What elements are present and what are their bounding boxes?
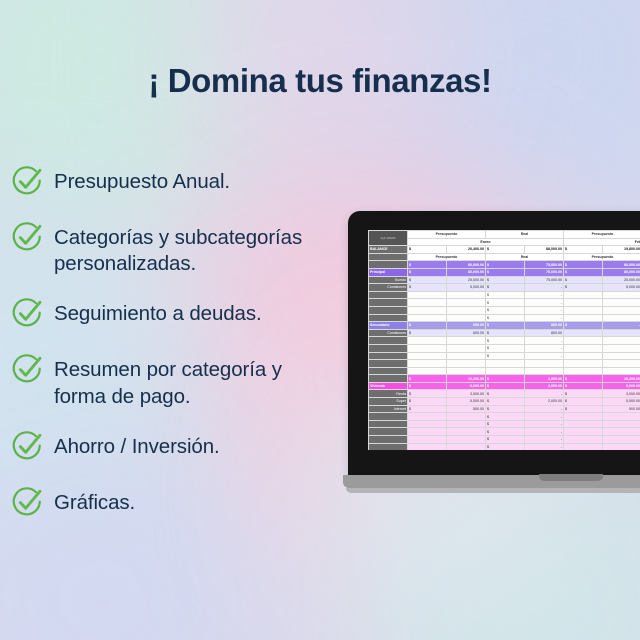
cell-value[interactable]: 800.00 [525,322,564,330]
balance-value[interactable]: 19,800.00 [603,246,640,254]
cell-value[interactable] [525,360,564,368]
feature-list: Presupuesto Anual. Categorías y subcateg… [10,167,382,544]
currency-symbol[interactable]: $ [408,322,447,330]
row-label[interactable]: Comisiones [369,329,408,337]
list-item-label: Resumen por categoría y forma de pago. [54,355,282,409]
currency-symbol[interactable]: $ [486,268,525,276]
cell-value[interactable] [447,299,486,307]
currency-symbol[interactable]: $ [486,322,525,330]
cell-value[interactable]: 25,000.00 [603,276,640,284]
currency-symbol[interactable]: $ [486,443,525,450]
cell-value[interactable]: - [525,284,564,292]
currency-symbol[interactable]: $ [408,390,447,398]
currency-symbol[interactable] [408,443,447,450]
currency-symbol[interactable]: $ [486,276,525,284]
currency-symbol[interactable]: $ [486,382,525,390]
laptop-foot [346,488,640,493]
currency-symbol[interactable]: $ [564,322,603,330]
currency-symbol[interactable] [564,306,603,314]
cell-value[interactable]: - [525,405,564,413]
list-item-label: Categorías y subcategorías personalizada… [54,223,302,277]
column-header[interactable]: Presupuesto [564,231,640,239]
currency-symbol[interactable]: $ [408,268,447,276]
column-header[interactable]: Presupuesto [564,253,640,261]
currency-symbol[interactable]: $ [486,390,525,398]
cell-value[interactable] [603,306,640,314]
currency-symbol[interactable] [408,337,447,345]
row-label[interactable]: Sueldo [369,276,408,284]
list-item-label: Presupuesto Anual. [54,167,230,195]
cell-value[interactable] [447,360,486,368]
sheet-row[interactable]: Comisiones$600.00$800.00$- [369,329,640,337]
column-header[interactable]: Presupuesto [408,231,486,239]
sheet-row[interactable]: $-$- [369,299,640,307]
poster-canvas: ¡ Domina tus finanzas! Presupuesto Anual… [0,0,640,640]
cell-value[interactable]: 500.00 [447,405,486,413]
row-label[interactable] [369,337,408,345]
cell-value[interactable] [603,352,640,360]
currency-symbol[interactable] [564,337,603,345]
currency-symbol[interactable] [564,299,603,307]
currency-symbol[interactable] [564,352,603,360]
cell-value[interactable] [447,367,486,375]
row-label[interactable] [369,299,408,307]
cell-value[interactable]: 5,000.00 [447,284,486,292]
currency-symbol[interactable]: $ [486,413,525,421]
sheet-row[interactable]: $-$- [369,314,640,322]
currency-symbol[interactable]: $ [564,390,603,398]
balance-label[interactable]: BALANCE [369,246,408,254]
cell-value[interactable]: 5,500.00 [447,398,486,406]
currency-symbol[interactable]: $ [564,398,603,406]
currency-symbol[interactable]: $ [408,284,447,292]
cell-value[interactable]: 2,000.00 [525,382,564,390]
currency-symbol[interactable]: $ [408,405,447,413]
cell-value[interactable] [447,314,486,322]
sheet-row[interactable]: Secundario$600.00$800.00$-$- [369,322,640,330]
currency-symbol[interactable]: $ [564,261,603,269]
check-circle-icon [10,297,44,331]
cell-value[interactable]: 80,000.00 [447,268,486,276]
currency-symbol[interactable]: $ [486,337,525,345]
currency-symbol[interactable]: $ [486,405,525,413]
cell-value[interactable]: - [525,443,564,450]
row-label[interactable]: Secundario [369,322,408,330]
currency-symbol[interactable] [564,291,603,299]
cell-value[interactable] [603,443,640,450]
sheet-row[interactable]: Comisiones$5,000.00$-$5,000.00$-$5 [369,284,640,292]
sheet-row[interactable] [369,360,640,368]
currency-symbol[interactable] [564,367,603,375]
currency-symbol[interactable]: $ [564,405,603,413]
cell-value[interactable]: 75,000.00 [525,276,564,284]
cell-value[interactable]: 80,000.00 [603,261,640,269]
cell-value[interactable]: - [525,291,564,299]
cell-value[interactable] [603,299,640,307]
currency-symbol[interactable] [408,436,447,444]
cell-value[interactable]: 10,200.00 [603,375,640,383]
currency-symbol[interactable]: $ [486,261,525,269]
sheet-row[interactable] [369,367,640,375]
row-label[interactable] [369,443,408,450]
sheet-row[interactable]: $-$- [369,291,640,299]
currency-symbol[interactable]: $ [486,291,525,299]
currency-symbol[interactable] [564,344,603,352]
currency-symbol[interactable] [408,428,447,436]
currency-symbol[interactable]: $ [564,382,603,390]
balance-value[interactable]: 88,000.00 [525,246,564,254]
month-header-row[interactable]: EneroFebrero [369,238,640,246]
cell-value[interactable]: 600.00 [447,329,486,337]
cell-value[interactable] [447,428,486,436]
cell-value[interactable]: 9,000.00 [603,382,640,390]
cell-value[interactable]: - [525,337,564,345]
cell-value[interactable]: - [525,314,564,322]
row-label[interactable] [369,436,408,444]
cell-value[interactable]: 2,000.00 [525,398,564,406]
row-label[interactable] [369,413,408,421]
sub-header-row[interactable]: PresupuestoRealPresupuestoRealPresupuest… [369,253,640,261]
column-header[interactable]: Real [486,231,564,239]
sheet-row[interactable]: $-$- [369,337,640,345]
row-label[interactable] [369,375,408,383]
budget-spreadsheet[interactable]: Ayb SARISPresupuestoRealPresupuestoRealP… [368,230,640,450]
currency-symbol[interactable] [564,443,603,450]
month-header[interactable]: Febrero [564,238,640,246]
cell-value[interactable]: 9,000.00 [447,382,486,390]
cell-value[interactable]: - [525,413,564,421]
cell-value[interactable] [447,443,486,450]
row-label[interactable] [369,291,408,299]
sheet-row[interactable]: Principal$80,000.00$75,000.00$80,000.00$… [369,268,640,276]
check-circle-icon [10,430,44,464]
check-circle-icon [10,165,44,199]
cell-value[interactable] [603,344,640,352]
balance-row[interactable]: BALANCE$20,400.00$88,000.00$19,800.00-$2… [369,246,640,254]
sheet-row[interactable]: Internet$500.00$-$500.00$-$5 [369,405,640,413]
list-item-label: Gráficas. [54,488,135,516]
cell-value[interactable]: 500.00 [603,405,640,413]
cell-value[interactable] [603,337,640,345]
currency-symbol[interactable] [564,413,603,421]
currency-symbol[interactable] [564,428,603,436]
row-label[interactable]: Renta [369,390,408,398]
cell-value[interactable] [603,436,640,444]
group-total-row[interactable]: $80,000.00$75,800.00$80,000.00$-$8 [369,261,640,269]
cell-value[interactable]: 2,800.00 [525,375,564,383]
cell-value[interactable] [603,314,640,322]
sheet-row[interactable]: $-$- [369,352,640,360]
currency-symbol[interactable]: $ [564,246,603,254]
currency-symbol[interactable] [564,329,603,337]
laptop-mockup: Ayb SARISPresupuestoRealPresupuestoRealP… [343,211,640,511]
currency-symbol[interactable] [486,360,525,368]
laptop-screen: Ayb SARISPresupuestoRealPresupuestoRealP… [368,230,640,450]
column-header[interactable]: Presupuesto [408,253,486,261]
list-item: Presupuesto Anual. [10,167,382,199]
cell-value[interactable] [447,291,486,299]
cell-value[interactable] [603,420,640,428]
currency-symbol[interactable]: $ [486,375,525,383]
cell-value[interactable]: 600.00 [447,322,486,330]
cell-value[interactable]: - [603,322,640,330]
list-item-label: Seguimiento a deudas. [54,299,262,327]
cell-value[interactable]: 5,500.00 [603,398,640,406]
sheet-row[interactable]: $-$- [369,413,640,421]
row-label[interactable] [369,360,408,368]
currency-symbol[interactable]: $ [408,276,447,284]
cell-value[interactable]: - [525,344,564,352]
currency-symbol[interactable]: $ [486,299,525,307]
sheet-row[interactable]: Vivienda$9,000.00$2,000.00$9,000.00$2,00… [369,382,640,390]
currency-symbol[interactable]: $ [486,344,525,352]
laptop-base [343,475,640,488]
cell-value[interactable]: 25,000.00 [447,276,486,284]
check-circle-icon [10,221,44,255]
cell-value[interactable] [447,352,486,360]
cell-value[interactable]: 3,000.00 [603,390,640,398]
currency-symbol[interactable] [408,360,447,368]
currency-symbol[interactable]: $ [486,246,525,254]
cell-value[interactable]: 5,000.00 [603,284,640,292]
cell-value[interactable] [447,306,486,314]
laptop-lid: Ayb SARISPresupuestoRealPresupuestoRealP… [348,211,640,477]
currency-symbol[interactable]: $ [486,398,525,406]
cell-value[interactable]: 80,000.00 [603,268,640,276]
balance-value[interactable]: 20,400.00 [447,246,486,254]
cell-value[interactable]: 10,200.00 [447,375,486,383]
cell-value[interactable] [447,344,486,352]
currency-symbol[interactable] [408,344,447,352]
cell-value[interactable]: - [525,352,564,360]
currency-symbol[interactable]: $ [564,284,603,292]
currency-symbol[interactable] [408,299,447,307]
currency-symbol[interactable]: $ [408,261,447,269]
cell-value[interactable] [525,367,564,375]
cell-value[interactable]: 75,800.00 [525,261,564,269]
currency-symbol[interactable] [564,314,603,322]
list-item: Seguimiento a deudas. [10,299,382,331]
cell-value[interactable]: - [525,436,564,444]
row-label[interactable] [369,314,408,322]
row-label[interactable]: Principal [369,268,408,276]
currency-symbol[interactable] [564,420,603,428]
row-label[interactable] [369,367,408,375]
row-label[interactable] [369,261,408,269]
list-item: Resumen por categoría y forma de pago. [10,355,382,409]
check-circle-icon [10,486,44,520]
check-circle-icon [10,353,44,387]
row-label[interactable] [369,420,408,428]
currency-symbol[interactable]: $ [486,428,525,436]
currency-symbol[interactable] [408,420,447,428]
cell-value[interactable]: - [525,420,564,428]
cell-value[interactable]: 80,000.00 [447,261,486,269]
sheet-row[interactable]: $-$- [369,344,640,352]
row-label[interactable] [369,352,408,360]
group-total-row[interactable]: $10,200.00$2,800.00$10,200.00$2,800.00$1… [369,375,640,383]
currency-symbol[interactable] [486,367,525,375]
list-item: Ahorro / Inversión. [10,432,382,464]
row-label[interactable] [369,253,408,261]
currency-symbol[interactable]: $ [564,276,603,284]
sheet-logo[interactable]: Ayb SARIS [369,231,408,246]
currency-symbol[interactable] [564,436,603,444]
cell-value[interactable]: 800.00 [525,329,564,337]
currency-symbol[interactable] [408,314,447,322]
currency-symbol[interactable] [408,306,447,314]
cell-value[interactable] [603,360,640,368]
currency-symbol[interactable]: $ [564,268,603,276]
currency-symbol[interactable]: $ [408,382,447,390]
currency-symbol[interactable]: $ [408,329,447,337]
cell-value[interactable]: - [525,299,564,307]
currency-symbol[interactable]: $ [486,329,525,337]
cell-value[interactable] [447,436,486,444]
currency-symbol[interactable]: $ [486,436,525,444]
currency-symbol[interactable]: $ [564,375,603,383]
row-label[interactable]: Comisiones [369,284,408,292]
sheet-row[interactable]: $-$- [369,428,640,436]
cell-value[interactable] [603,291,640,299]
cell-value[interactable] [447,420,486,428]
currency-symbol[interactable]: $ [408,398,447,406]
cell-value[interactable] [447,413,486,421]
cell-value[interactable]: - [525,390,564,398]
cell-value[interactable] [603,329,640,337]
sheet-header-row[interactable]: Ayb SARISPresupuestoRealPresupuestoRealP… [369,231,640,239]
currency-symbol[interactable]: $ [486,306,525,314]
currency-symbol[interactable] [408,352,447,360]
list-item: Gráficas. [10,488,382,520]
currency-symbol[interactable]: $ [486,314,525,322]
cell-value[interactable]: - [525,306,564,314]
column-header[interactable]: Real [486,253,564,261]
cell-value[interactable] [603,413,640,421]
row-label[interactable]: Vivienda [369,382,408,390]
row-label[interactable]: Internet [369,405,408,413]
currency-symbol[interactable] [408,291,447,299]
cell-value[interactable]: 75,000.00 [525,268,564,276]
cell-value[interactable]: 3,000.00 [447,390,486,398]
row-label[interactable] [369,344,408,352]
sheet-row[interactable]: $-$- [369,420,640,428]
sheet-row[interactable]: Super$5,500.00$2,000.00$5,500.00$2,000.0… [369,398,640,406]
sheet-row[interactable]: $-$- [369,443,640,450]
row-label[interactable]: Super [369,398,408,406]
row-label[interactable] [369,428,408,436]
currency-symbol[interactable]: $ [408,246,447,254]
currency-symbol[interactable]: $ [486,284,525,292]
page-title: ¡ Domina tus finanzas! [0,62,640,100]
sheet-row[interactable]: Sueldo$25,000.00$75,000.00$25,000.00$-$2 [369,276,640,284]
currency-symbol[interactable]: $ [486,352,525,360]
cell-value[interactable]: - [525,428,564,436]
sheet-row[interactable]: Renta$3,000.00$-$3,000.00$-$3 [369,390,640,398]
month-header[interactable]: Enero [408,238,564,246]
row-label[interactable] [369,306,408,314]
currency-symbol[interactable] [564,360,603,368]
sheet-row[interactable]: $-$- [369,436,640,444]
cell-value[interactable] [603,428,640,436]
cell-value[interactable] [603,367,640,375]
list-item: Categorías y subcategorías personalizada… [10,223,382,277]
sheet-row[interactable]: $-$- [369,306,640,314]
currency-symbol[interactable]: $ [486,420,525,428]
currency-symbol[interactable] [408,413,447,421]
currency-symbol[interactable] [408,367,447,375]
list-item-label: Ahorro / Inversión. [54,432,220,460]
cell-value[interactable] [447,337,486,345]
currency-symbol[interactable]: $ [408,375,447,383]
